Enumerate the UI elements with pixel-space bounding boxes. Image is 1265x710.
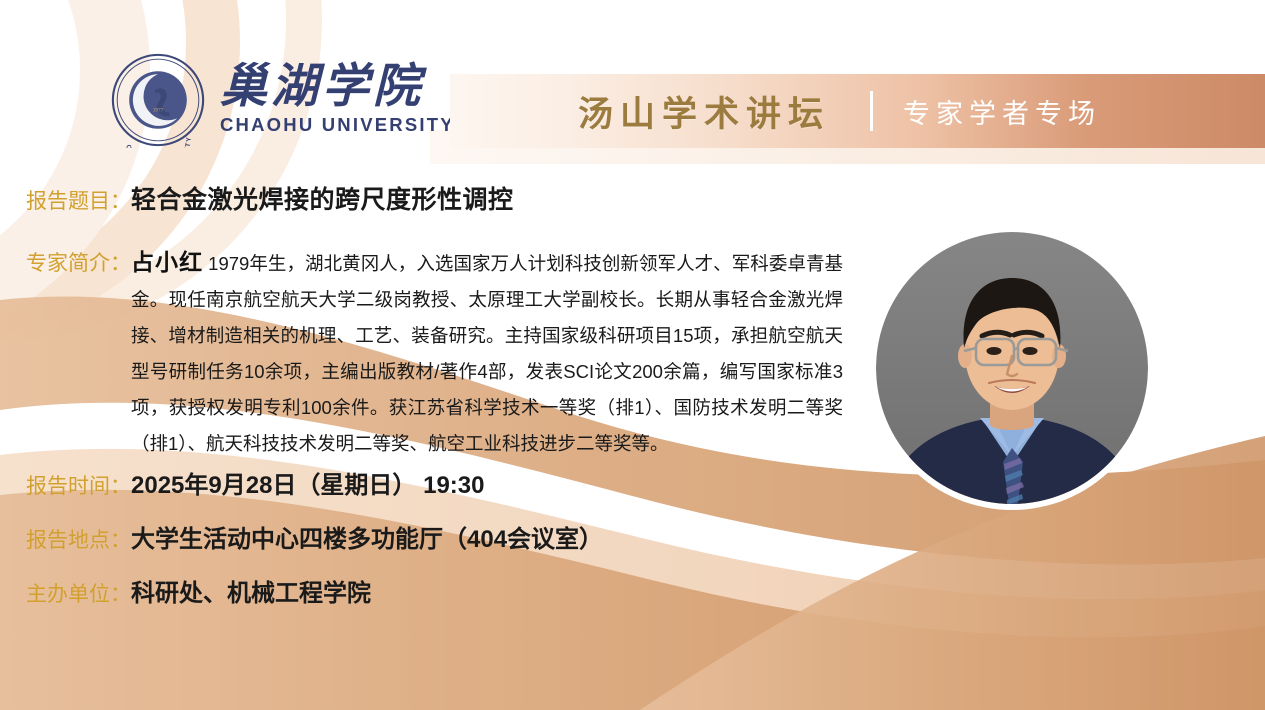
banner-subtitle: 专家学者专场 <box>903 92 1101 131</box>
svg-text:巢 湖 学 院: 巢 湖 学 院 <box>123 52 194 54</box>
speaker-name: 占小红 <box>131 249 203 275</box>
banner-divider <box>870 91 873 131</box>
banner-main-title: 汤山学术讲坛 <box>578 86 830 137</box>
university-logo: 1977 巢 湖 学 院 CHAOHU UNIVERSITY 巢湖学院 CHAO… <box>110 52 455 148</box>
talk-place-value: 大学生活动中心四楼多功能厅（404会议室） <box>131 519 603 554</box>
talk-host-row: 主办单位： 科研处、机械工程学院 <box>26 573 371 608</box>
talk-time-label: 报告时间： <box>26 470 131 500</box>
speaker-bio-label: 专家简介： <box>26 244 131 277</box>
svg-text:1977: 1977 <box>153 108 164 114</box>
speaker-bio-body: 占小红1979年生，湖北黄冈人，入选国家万人计划科技创新领军人才、军科委卓青基金… <box>131 244 843 462</box>
talk-title-row: 报告题目： 轻合金激光焊接的跨尺度形性调控 <box>26 180 514 216</box>
university-seal-icon: 1977 巢 湖 学 院 CHAOHU UNIVERSITY <box>110 52 206 148</box>
talk-place-row: 报告地点： 大学生活动中心四楼多功能厅（404会议室） <box>26 519 603 554</box>
university-wordmark: 巢湖学院 CHAOHU UNIVERSITY <box>220 64 455 137</box>
speaker-bio-row: 专家简介： 占小红1979年生，湖北黄冈人，入选国家万人计划科技创新领军人才、军… <box>26 244 886 462</box>
talk-place-label: 报告地点： <box>26 524 131 554</box>
talk-title-value: 轻合金激光焊接的跨尺度形性调控 <box>131 180 514 216</box>
seminar-poster: 1977 巢 湖 学 院 CHAOHU UNIVERSITY 巢湖学院 CHAO… <box>0 0 1265 710</box>
event-series-banner: 汤山学术讲坛 专家学者专场 <box>450 74 1265 148</box>
talk-host-label: 主办单位： <box>26 578 131 608</box>
talk-time-row: 报告时间： 2025年9月28日（星期日） 19:30 <box>26 465 484 500</box>
wordmark-chinese: 巢湖学院 <box>220 64 455 112</box>
wordmark-english: CHAOHU UNIVERSITY <box>220 114 455 136</box>
talk-host-value: 科研处、机械工程学院 <box>131 573 371 608</box>
speaker-portrait <box>876 232 1148 504</box>
speaker-headshot-image <box>876 232 1148 504</box>
speaker-bio-text: 1979年生，湖北黄冈人，入选国家万人计划科技创新领军人才、军科委卓青基金。现任… <box>131 253 843 454</box>
talk-time-value: 2025年9月28日（星期日） 19:30 <box>131 465 484 500</box>
talk-title-label: 报告题目： <box>26 185 131 215</box>
